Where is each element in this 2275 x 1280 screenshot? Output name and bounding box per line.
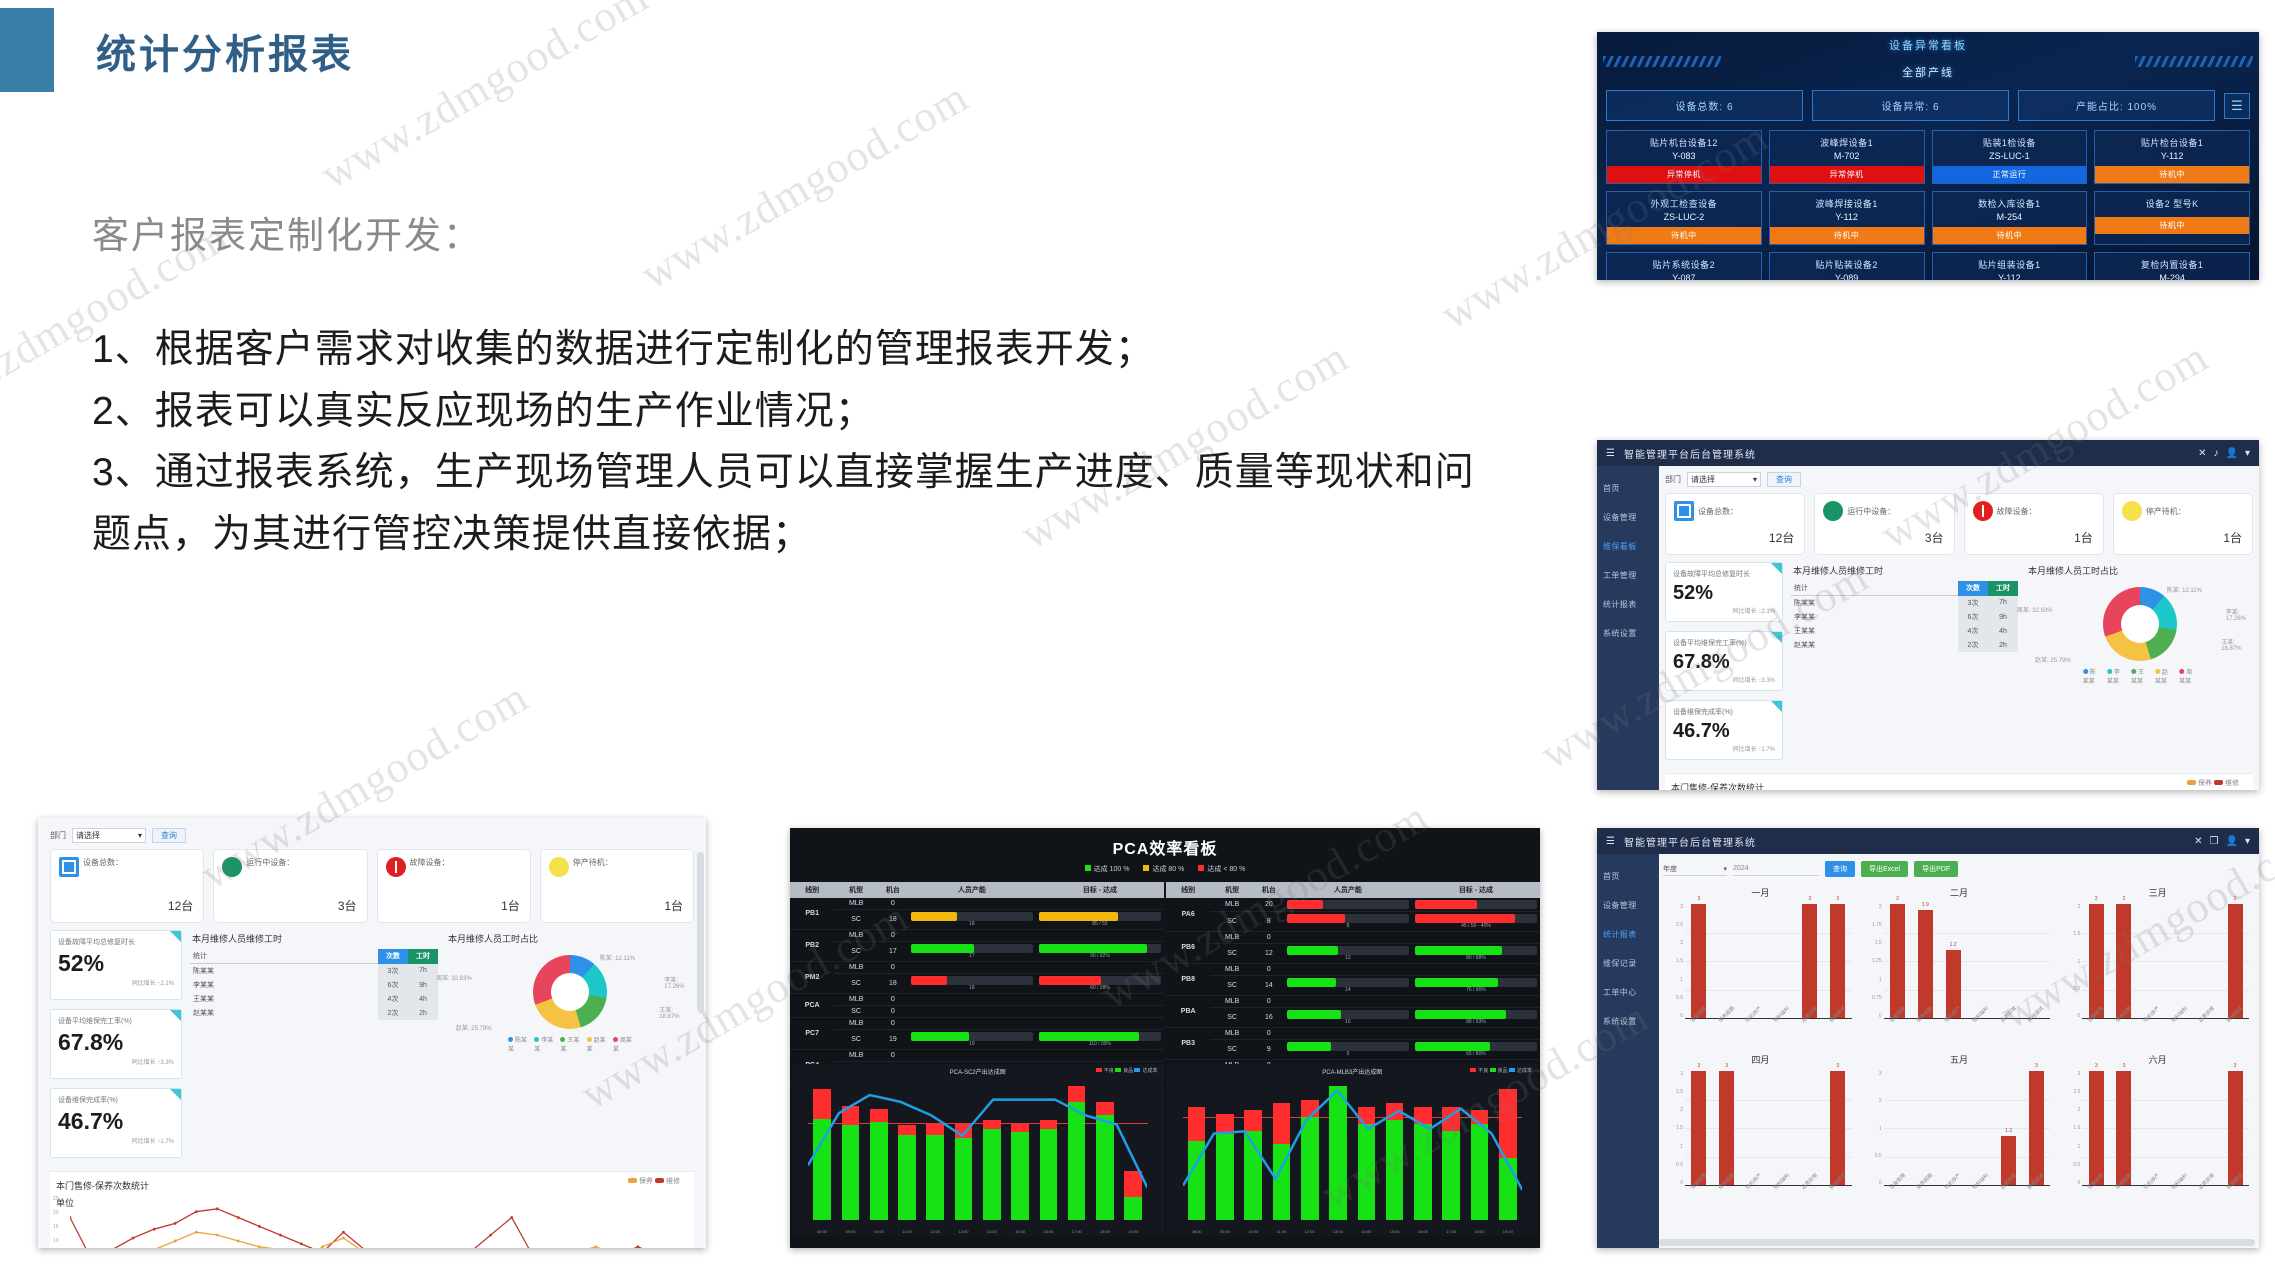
bar-track <box>1287 978 1409 987</box>
y-tick: 1 <box>1680 977 1683 983</box>
report-main: 年度 ▾ 2024 查询 导出Excel 导出PDF 一月32.521.510.… <box>1659 854 2259 1248</box>
y-tick: 0 <box>2078 1180 2081 1186</box>
bar-track <box>1415 1010 1537 1019</box>
close-icon[interactable]: ✕ <box>2194 836 2202 847</box>
pca-table-row: PA6MLB20 <box>1166 898 1540 912</box>
kpi-value: 1台 <box>501 897 520 914</box>
device-card[interactable]: 设备2 型号K待机中 <box>2094 191 2250 245</box>
pca-line-name: PB6 <box>1166 932 1210 964</box>
pca-qty: 9 <box>1254 1040 1284 1060</box>
report-search-button[interactable]: 查询 <box>1825 861 1855 877</box>
legend-swatch <box>1134 1068 1140 1072</box>
report-chart-title: 一月 <box>1663 886 1858 899</box>
staff-table-header-count: 次数 <box>1958 581 1988 596</box>
kpi-label: 故障设备： <box>410 857 450 868</box>
device-card[interactable]: 数检入库设备1M-254待机中 <box>1932 191 2088 245</box>
legend-swatch <box>2214 780 2223 785</box>
equipment-kpi-capacity[interactable]: 产能占比: 100% <box>2018 90 2215 121</box>
legend-swatch <box>1096 1068 1102 1072</box>
device-icon <box>59 857 79 877</box>
pca-table: 线别机型机台人员产能目标 - 达成PA6MLB20SC8845 / 50 - 4… <box>1166 882 1540 1084</box>
x-tick: 14:00 <box>1361 1229 1371 1234</box>
kpi-label: 运行中设备： <box>246 857 294 868</box>
report-chart-plot: 222 <box>2082 904 2249 1019</box>
device-card[interactable]: 贴装1检设备ZS-LUC-1正常运行 <box>1932 130 2088 184</box>
bar-value-label: 3 <box>1836 896 1839 902</box>
department-select-value: 请选择 <box>1691 474 1715 485</box>
report-export-excel-button[interactable]: 导出Excel <box>1861 861 1908 877</box>
bar-value-label: 2 <box>2095 896 2098 902</box>
pca-capacity-bar <box>908 1018 1036 1030</box>
dashboard-large-main: 部门请选择▾查询设备总数：12台运行中设备：3台故障设备：1台停产待机：1台设备… <box>38 818 706 1248</box>
device-code: Y-089 <box>1770 273 1924 280</box>
dashboard-sidebar: 首页设备管理维保看板工单管理统计报表系统设置 <box>1597 466 1659 790</box>
bar-fill <box>1415 914 1515 923</box>
bar-note: 18 <box>911 985 1033 991</box>
y-tick: 1 <box>2078 1144 2081 1150</box>
report-sidebar-item-4[interactable]: 工单中心 <box>1597 978 1659 1007</box>
report-bar: 2 <box>1890 904 1905 1018</box>
bar-value-label: 3 <box>1725 1063 1728 1069</box>
donut-legend-item: 周某某 <box>613 1035 632 1053</box>
bar-fill <box>1287 946 1338 955</box>
report-chart-plot: 333 <box>1685 1071 1852 1186</box>
x-tick: 19:00 <box>1128 1229 1138 1234</box>
x-tick: 12:00 <box>1305 1229 1315 1234</box>
donut-title: 本月维修人员工时占比 <box>448 932 694 945</box>
bar-track <box>1415 900 1537 909</box>
percent-card-value: 67.8% <box>58 1029 174 1056</box>
report-export-pdf-button[interactable]: 导出PDF <box>1914 861 1958 877</box>
device-status-badge: 待机中 <box>1933 227 2087 244</box>
report-chart-2: 三月21.510.50222设备故障保养超期待机停产物料缺料品质异常换线调试 <box>2060 886 2255 1049</box>
legend-swatch <box>655 1178 664 1183</box>
pca-target-bar <box>1036 1006 1164 1018</box>
donut-legend-item: 李某某 <box>534 1035 553 1053</box>
report-sidebar-item-5[interactable]: 系统设置 <box>1597 1007 1659 1036</box>
staff-table-row: 李某某6次9h <box>1791 610 2018 624</box>
dashboard-scrollbar[interactable] <box>697 852 704 1012</box>
report-topbar-icon-group: ✕ ❐ 👤 ▾ <box>2194 836 2250 847</box>
staff-hours: 4h <box>1988 624 2018 638</box>
kpi-card[interactable]: 故障设备：1台 <box>377 849 531 923</box>
percent-card-sub: 同比增长 ↑3.3% <box>1673 675 1775 684</box>
device-name: 外观工检查设备 <box>1607 192 1761 212</box>
pca-table-row: SC181860 / 38% <box>790 974 1164 994</box>
bar-track <box>1039 976 1161 985</box>
pca-table-row: SC9965 / 80% <box>1166 1040 1540 1060</box>
hamburger-menu-icon[interactable]: ☰ <box>1606 448 1615 459</box>
filter-label: 部门 <box>1665 474 1681 485</box>
pca-table-row: SC141476 / 90% <box>1166 976 1540 996</box>
percent-card-sub: 同比增长 ↑1.7% <box>58 1136 174 1145</box>
bar-value-label: 3 <box>2123 1063 2126 1069</box>
device-status-badge: 待机中 <box>1607 227 1761 244</box>
device-name: 贴片组装设备1 <box>1933 253 2087 273</box>
staff-table-row: 陈某某3次7h <box>1791 596 2018 611</box>
report-bar: 3 <box>1830 904 1845 1018</box>
bell-icon[interactable]: ♪ <box>2214 448 2219 459</box>
pca-qty: 16 <box>1254 1008 1284 1028</box>
sidebar-item-2[interactable]: 维保看板 <box>1597 532 1659 561</box>
device-card[interactable]: 复检内置设备1M-294正常运行 <box>2094 252 2250 280</box>
kpi-value: 1台 <box>664 897 683 914</box>
chevron-down-icon: ▾ <box>1723 865 1727 873</box>
hamburger-menu-icon[interactable]: ☰ <box>2224 93 2250 119</box>
pca-capacity-bar <box>908 930 1036 942</box>
staff-table-header-name: 统计 <box>190 949 378 964</box>
pca-capacity-bar: 14 <box>1284 976 1412 996</box>
hash-decor-right <box>2135 56 2253 67</box>
dashboard-kpi-row: 设备总数：12台运行中设备：3台故障设备：1台停产待机：1台 <box>1665 493 2253 555</box>
staff-name: 王某某 <box>1791 624 1958 638</box>
percent-card: 设备平均维保完工率(%)67.8%同比增长 ↑3.3% <box>50 1009 182 1079</box>
pca-qty: 18 <box>878 910 908 930</box>
pca-table-row: PBAMLB0 <box>1166 996 1540 1008</box>
staff-name: 赵某某 <box>1791 638 1958 652</box>
pca-table-right: 线别机型机台人员产能目标 - 达成PA6MLB20SC8845 / 50 - 4… <box>1166 882 1540 1062</box>
bar-fill <box>1415 946 1502 955</box>
pca-qty: 8 <box>1254 912 1284 932</box>
device-code: Y-112 <box>1770 212 1924 227</box>
sidebar-item-0[interactable]: 首页 <box>1597 474 1659 503</box>
query-button[interactable]: 查询 <box>152 828 186 843</box>
line-chart-title: 本门售修-保养次数统计 <box>56 1179 690 1192</box>
staff-table: 统计次数工时陈某某3次7h李某某6次9h王某某4次4h赵某某2次2h <box>190 949 438 1020</box>
percent-card-caption: 设备维保完成率(%) <box>1673 707 1775 717</box>
sidebar-item-3[interactable]: 工单管理 <box>1597 561 1659 590</box>
report-sidebar-item-2[interactable]: 统计报表 <box>1597 920 1659 949</box>
pca-model: SC <box>1210 944 1254 964</box>
percent-card-sub: 同比增长 ↑2.1% <box>58 978 174 987</box>
bar-fill <box>1039 944 1147 953</box>
bar-note: 110 / 99% <box>1039 1041 1161 1047</box>
sidebar-item-5[interactable]: 系统设置 <box>1597 619 1659 648</box>
device-name: 设备2 型号K <box>2095 192 2249 212</box>
kpi-card[interactable]: 运行中设备：3台 <box>1814 493 1954 555</box>
staff-table-header-name: 统计 <box>1791 581 1958 596</box>
pca-charts: PCA-SC2产出达成图不良 良品 达成率 08:0009:0010:0011:… <box>790 1062 1540 1238</box>
y-tick: 3 <box>1879 1071 1882 1077</box>
report-period-value: 年度 <box>1663 864 1677 874</box>
staff-hours: 9h <box>1988 610 2018 624</box>
dashboard-right-column: 本月维修人员维修工时统计次数工时陈某某3次7h李某某6次9h王某某4次4h赵某某… <box>190 930 694 1167</box>
bar-track <box>911 976 1033 985</box>
report-chart-bars: 333 <box>2082 1071 2249 1185</box>
y-tick: 2 <box>1680 1107 1683 1113</box>
pca-capacity-bar: 16 <box>1284 1008 1412 1028</box>
pca-target-bar <box>1412 996 1540 1008</box>
percent-card-sub: 同比增长 ↑1.7% <box>1673 744 1775 753</box>
y-tick: 2 <box>2078 1107 2081 1113</box>
device-name: 贴片贴装设备2 <box>1770 253 1924 273</box>
bar-track <box>1287 946 1409 955</box>
bar-fill <box>1287 914 1346 923</box>
device-card[interactable]: 贴片检台设备1Y-112待机中 <box>2094 130 2250 184</box>
report-sidebar-item-0[interactable]: 首页 <box>1597 862 1659 891</box>
pca-qty: 0 <box>1254 996 1284 1008</box>
device-name: 复检内置设备1 <box>2095 253 2249 273</box>
legend-item: 达成率 <box>1509 1068 1532 1074</box>
device-card[interactable]: 贴片贴装设备2Y-089异常停机 <box>1769 252 1925 280</box>
pca-capacity-bar <box>1284 996 1412 1008</box>
x-tick: 19:00 <box>1503 1229 1513 1234</box>
staff-table-title: 本月维修人员维修工时 <box>192 932 438 945</box>
x-tick: 14:00 <box>987 1229 997 1234</box>
chevron-down-icon[interactable]: ▾ <box>2245 836 2250 847</box>
pca-model: SC <box>1210 976 1254 996</box>
kpi-card[interactable]: 设备总数：12台 <box>1665 493 1805 555</box>
dashboard-body: 首页设备管理维保看板工单管理统计报表系统设置 部门请选择▾查询设备总数：12台运… <box>1597 466 2259 790</box>
staff-name: 陈某某 <box>190 964 378 979</box>
legend-swatch <box>628 1178 637 1183</box>
pca-target-bar: 80 / 88% <box>1412 944 1540 964</box>
pca-model: MLB <box>834 962 878 974</box>
x-tick: 11:00 <box>902 1229 912 1234</box>
pca-line-name: PB3 <box>1166 1028 1210 1060</box>
y-tick: 1.25 <box>1872 958 1882 964</box>
pca-bar-good <box>1124 1197 1142 1220</box>
kpi-label: 停产待机： <box>2146 506 2186 517</box>
legend-item: 不良 <box>1470 1068 1489 1074</box>
bar-value-label: 3 <box>2095 1063 2098 1069</box>
pca-table-row: PC4MLB0 <box>790 1050 1164 1062</box>
y-tick: 1 <box>1879 1126 1882 1132</box>
pca-target-bar <box>1412 932 1540 944</box>
device-card[interactable]: 贴片系统设备2Y-087异常停机 <box>1606 252 1762 280</box>
bar-note: 9 <box>1287 1051 1409 1057</box>
device-card[interactable]: 贴片机台设备12Y-083异常停机 <box>1606 130 1762 184</box>
pca-table-row: PM2MLB0 <box>790 962 1164 974</box>
report-chart-0: 一月32.521.510.50333设备故障保养超期待机停产物料缺料品质异常换线… <box>1663 886 1858 1049</box>
device-card[interactable]: 波峰焊接设备1Y-112待机中 <box>1769 191 1925 245</box>
y-tick: 0 <box>1879 1013 1882 1019</box>
device-card[interactable]: 波峰焊设备1M-702异常停机 <box>1769 130 1925 184</box>
pca-table: 线别机型机台人员产能目标 - 达成PB1MLB0SC181885 / 55PB2… <box>790 882 1164 1082</box>
copy-icon[interactable]: ❐ <box>2210 836 2219 847</box>
pca-capacity-bar: 19 <box>908 1030 1036 1050</box>
report-chart-bars: 333 <box>1685 904 1852 1018</box>
percent-card-column: 设备故障平均总修复时长52%同比增长 ↑2.1%设备平均维保完工率(%)67.8… <box>50 930 182 1167</box>
device-status-badge: 异常停机 <box>1607 166 1761 183</box>
kpi-label: 运行中设备： <box>1847 506 1895 517</box>
bar-value-label: 3 <box>1836 1063 1839 1069</box>
pca-col-3: 人员产能 <box>908 882 1036 898</box>
kpi-label: 设备总数： <box>83 857 123 868</box>
chevron-down-icon[interactable]: ▾ <box>2245 448 2250 459</box>
pca-table-row: SC161688 / 93% <box>1166 1008 1540 1028</box>
report-chart-5: 六月32.521.510.50333设备故障保养超期待机停产物料缺料品质异常换线… <box>2060 1053 2255 1216</box>
legend-swatch <box>1509 1068 1515 1072</box>
pca-legend: 达成 100 %达成 80 %达成 < 80 % <box>790 864 1540 874</box>
staff-hours: 4h <box>408 992 438 1006</box>
device-code: Y-112 <box>2095 151 2249 166</box>
pca-efficiency-board-screenshot: PCA效率看板 达成 100 %达成 80 %达成 < 80 % 线别机型机台人… <box>790 828 1540 1248</box>
pca-target-bar: 45 / 50 - 40% <box>1412 912 1540 932</box>
report-year-input[interactable]: 2024 <box>1733 862 1819 876</box>
pca-target-bar <box>1036 898 1164 910</box>
percent-card: 设备维保完成率(%)46.7%同比增长 ↑1.7% <box>1665 700 1783 760</box>
pca-tables: 线别机型机台人员产能目标 - 达成PB1MLB0SC181885 / 55PB2… <box>790 882 1540 1062</box>
pca-legend-item: 达成 < 80 % <box>1198 864 1245 874</box>
pca-model: SC <box>834 1006 878 1018</box>
donut-legend: 陈某某李某某王某某赵某某周某某 <box>2083 667 2197 685</box>
staff-count: 6次 <box>1958 610 1988 624</box>
pca-target-bar <box>1036 930 1164 942</box>
report-chart-1: 二月21.751.51.2510.75021.91.2设备故障保养超期待机停产物… <box>1862 886 2057 1049</box>
y-tick: 0.5 <box>1676 1162 1683 1168</box>
close-icon[interactable]: ✕ <box>2198 448 2206 459</box>
user-icon[interactable]: 👤 <box>2226 448 2238 459</box>
report-period-select[interactable]: 年度 ▾ <box>1663 862 1727 876</box>
report-sidebar-item-1[interactable]: 设备管理 <box>1597 891 1659 920</box>
pca-capacity-bar: 9 <box>1284 1040 1412 1060</box>
report-scrollbar[interactable] <box>1659 1239 2255 1246</box>
pca-col-4: 目标 - 达成 <box>1036 882 1164 898</box>
report-chart-bars: 333 <box>1685 1071 1852 1185</box>
donut-segment-label: 赵某: 25.79% <box>456 1023 492 1032</box>
staff-count: 4次 <box>378 992 408 1006</box>
donut-chart: 陈某: 12.11%李某: 17.26%王某: 18.87%赵某: 25.79%… <box>2026 581 2253 685</box>
x-tick: 08:00 <box>1192 1229 1202 1234</box>
pca-model: MLB <box>1210 898 1254 912</box>
y-tick: 2.5 <box>1676 922 1683 928</box>
user-icon[interactable]: 👤 <box>2226 836 2238 847</box>
sidebar-item-4[interactable]: 统计报表 <box>1597 590 1659 619</box>
legend-item: 不良 <box>1096 1068 1115 1074</box>
percent-card: 设备平均维保完工率(%)67.8%同比增长 ↑3.3% <box>1665 631 1783 691</box>
pca-table-row: SC121280 / 88% <box>1166 944 1540 964</box>
query-button[interactable]: 查询 <box>1767 472 1801 487</box>
percent-card-caption: 设备平均维保完工率(%) <box>1673 638 1775 648</box>
department-select[interactable]: 请选择▾ <box>72 828 146 843</box>
percent-card-value: 67.8% <box>1673 651 1775 674</box>
bar-value-label: 3 <box>1697 1063 1700 1069</box>
kpi-card[interactable]: 运行中设备：3台 <box>213 849 367 923</box>
device-card[interactable]: 外观工检查设备ZS-LUC-2待机中 <box>1606 191 1762 245</box>
report-chart-y-axis: 21.751.51.2510.750 <box>1864 904 1882 1019</box>
pca-table-row: SC0 <box>790 1006 1164 1018</box>
table-and-donut: 本月维修人员维修工时统计次数工时陈某某3次7h李某某6次9h王某某4次4h赵某某… <box>1791 562 2253 685</box>
legend-swatch <box>1470 1068 1476 1072</box>
equipment-kpi-abnormal[interactable]: 设备异常: 6 <box>1812 90 2009 121</box>
percent-card-caption: 设备维保完成率(%) <box>58 1095 174 1105</box>
pca-qty: 12 <box>1254 944 1284 964</box>
report-bar: 2 <box>2116 904 2131 1018</box>
pca-model: SC <box>834 974 878 994</box>
donut-wrap-outer: 本月维修人员工时占比陈某: 12.11%李某: 17.26%王某: 18.87%… <box>2026 562 2253 685</box>
donut-segment-label: 陈某: 12.11% <box>600 953 635 962</box>
report-chart-x-axis: 设备故障保养超期待机停产物料缺料品质异常换线调试 <box>1685 1019 1852 1047</box>
bar-fill <box>1415 978 1498 987</box>
hamburger-menu-icon[interactable]: ☰ <box>1606 836 1615 847</box>
bar-fill <box>1415 1010 1506 1019</box>
percent-card: 设备故障平均总修复时长52%同比增长 ↑2.1% <box>50 930 182 1000</box>
card-corner-mark <box>1771 632 1782 643</box>
pca-target-bar <box>1036 1018 1164 1030</box>
equipment-board-screenshot: 设备异常看板 全部产线 设备总数: 6 设备异常: 6 产能占比: 100% ☰… <box>1597 32 2259 280</box>
achievement-rate-line <box>1183 1086 1522 1199</box>
sidebar-item-1[interactable]: 设备管理 <box>1597 503 1659 532</box>
bar-track <box>1039 912 1161 921</box>
pca-chart-legend: 不良 良品 达成率 <box>1470 1067 1532 1074</box>
kpi-card[interactable]: 故障设备：1台 <box>1964 493 2104 555</box>
x-tick: 13:00 <box>958 1229 968 1234</box>
legend-item: 良品 <box>1115 1068 1134 1074</box>
pca-table-row: PB6MLB0 <box>1166 932 1540 944</box>
donut-chart: 陈某: 12.11%李某: 17.26%王某: 18.87%赵某: 25.79%… <box>446 949 694 1053</box>
dashboard-mid-row: 设备故障平均总修复时长52%同比增长 ↑2.1%设备平均维保完工率(%)67.8… <box>50 930 694 1167</box>
pca-col-1: 机型 <box>834 882 878 898</box>
pca-table-row: PB8MLB0 <box>1166 964 1540 976</box>
line-chart-box: 本门售修-保养次数统计单位保养 维修 252015105012345678910… <box>50 1171 694 1248</box>
alert-icon <box>386 857 406 877</box>
donut-ring <box>533 955 607 1029</box>
pca-target-bar: 85 / 55 <box>1036 910 1164 930</box>
report-chart-grid: 一月32.521.510.50333设备故障保养超期待机停产物料缺料品质异常换线… <box>1659 886 2259 1216</box>
table-and-donut: 本月维修人员维修工时统计次数工时陈某某3次7h李某某6次9h王某某4次4h赵某某… <box>190 930 694 1053</box>
pca-chart-x-axis: 08:0009:0010:0011:0012:0013:0014:0015:00… <box>1183 1229 1523 1234</box>
report-sidebar-item-3[interactable]: 维保记录 <box>1597 949 1659 978</box>
donut-wrap-outer: 本月维修人员工时占比陈某: 12.11%李某: 17.26%王某: 18.87%… <box>446 930 694 1053</box>
bar-fill <box>1415 1042 1490 1051</box>
y-tick: 1 <box>2078 959 2081 965</box>
y-tick: 0.75 <box>1872 995 1882 1001</box>
equipment-kpi-total[interactable]: 设备总数: 6 <box>1606 90 1803 121</box>
pca-line-name: PB1 <box>790 898 834 930</box>
y-tick: 0 <box>1879 1180 1882 1186</box>
pca-legend-item: 达成 80 % <box>1143 864 1184 874</box>
donut-segment-label: 王某: 18.87% <box>2221 637 2253 652</box>
staff-table-title: 本月维修人员维修工时 <box>1793 564 2018 577</box>
line-chart-legend: 保养 维修 <box>628 1176 680 1186</box>
bar-fill <box>911 912 957 921</box>
pca-model: SC <box>1210 1008 1254 1028</box>
report-sidebar: 首页设备管理统计报表维保记录工单中心系统设置 <box>1597 854 1659 1248</box>
pca-model: MLB <box>834 1018 878 1030</box>
department-select[interactable]: 请选择▾ <box>1687 472 1761 487</box>
pca-capacity-bar: 17 <box>908 942 1036 962</box>
x-tick: 15:00 <box>1390 1229 1400 1234</box>
kpi-card[interactable]: 停产待机：1台 <box>2113 493 2253 555</box>
pca-line-name: PC7 <box>790 1018 834 1050</box>
pca-line-name: PA6 <box>1166 898 1210 932</box>
bar-track <box>1287 900 1409 909</box>
kpi-card[interactable]: 设备总数：12台 <box>50 849 204 923</box>
report-bar: 3 <box>1719 1071 1734 1185</box>
pca-chart-1: PCA-MLB3产出达成图不良 良品 达成率 08:0009:0010:0011… <box>1167 1064 1539 1236</box>
device-card[interactable]: 贴片组装设备1Y-112异常停机 <box>1932 252 2088 280</box>
kpi-value: 3台 <box>338 897 357 914</box>
device-status-badge: 待机中 <box>1770 227 1924 244</box>
percent-card-value: 52% <box>58 950 174 977</box>
report-body: 首页设备管理统计报表维保记录工单中心系统设置 年度 ▾ 2024 查询 导出Ex… <box>1597 854 2259 1248</box>
pca-table-row: PB1MLB0 <box>790 898 1164 910</box>
staff-count: 6次 <box>378 978 408 992</box>
maintenance-dashboard-screenshot-large: 部门请选择▾查询设备总数：12台运行中设备：3台故障设备：1台停产待机：1台设备… <box>38 818 706 1248</box>
bar-note: 18 <box>911 921 1033 927</box>
device-code: M-254 <box>1933 212 2087 227</box>
report-topbar: ☰ 智能管理平台后台管理系统 ✕ ❐ 👤 ▾ <box>1597 828 2259 854</box>
legend-swatch <box>1115 1068 1121 1072</box>
report-chart-y-axis: 32.521.510.50 <box>1665 904 1683 1019</box>
donut-segment-label: 陈某: 12.11% <box>2167 585 2202 594</box>
kpi-card[interactable]: 停产待机：1台 <box>540 849 694 923</box>
bar-track <box>911 1032 1033 1041</box>
report-chart-title: 二月 <box>1862 886 2057 899</box>
card-corner-mark <box>1771 701 1782 712</box>
kpi-label: 故障设备： <box>1997 506 2037 517</box>
